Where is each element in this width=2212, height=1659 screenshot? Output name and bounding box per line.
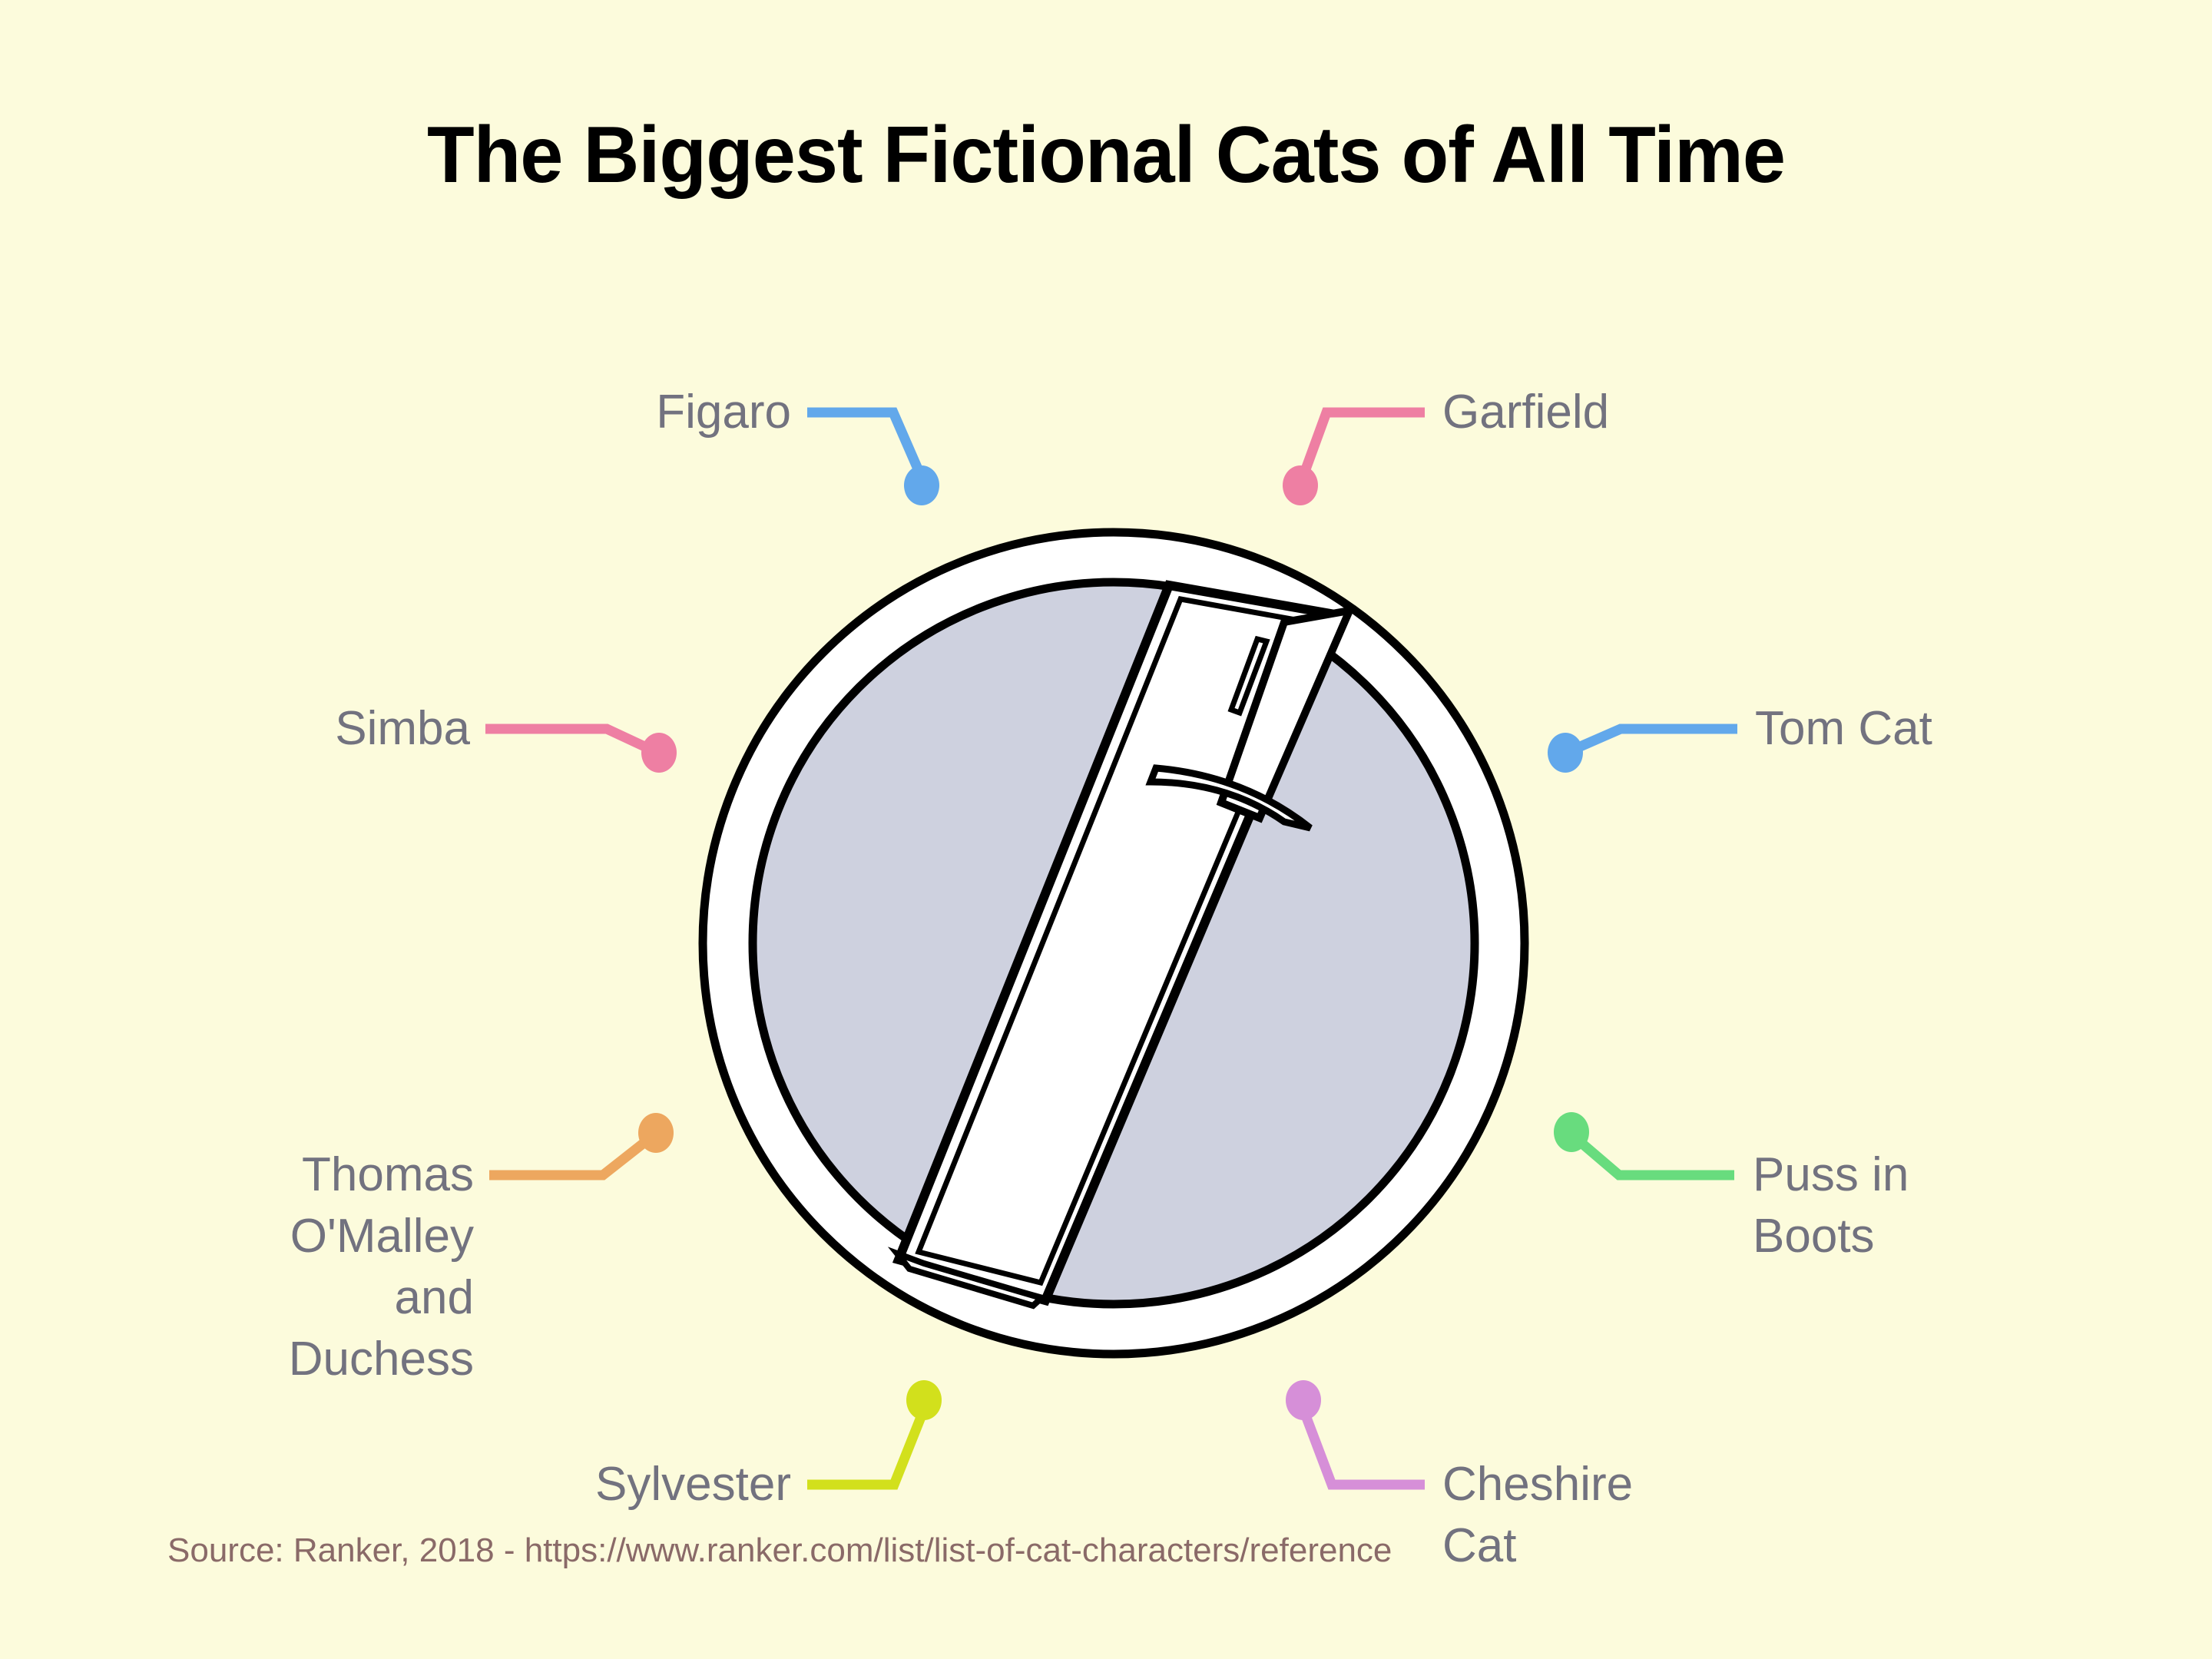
leader-dot-figaro [904,465,939,505]
callout-label-simba[interactable]: Simba [0,698,470,760]
leader-line-tomcat [1571,729,1737,750]
callout-label-figaro[interactable]: Figaro [307,382,791,443]
leader-dot-simba [641,733,677,773]
callout-label-thomas-omalley-and-duchess[interactable]: Thomas O'Malley and Duchess [0,1144,474,1390]
leader-line-garfield [1303,412,1425,478]
leader-dot-sylvester [906,1380,942,1420]
leader-dot-puss [1554,1112,1589,1152]
callout-label-garfield[interactable]: Garfield [1442,382,1980,443]
callout-label-cheshire-cat[interactable]: Cheshire Cat [1442,1454,1919,1577]
leader-dot-garfield [1283,465,1318,505]
leader-line-thomas [489,1138,650,1175]
callout-label-tom-cat[interactable]: Tom Cat [1755,698,2185,760]
source-note: Source: Ranker, 2018 - https://www.ranke… [167,1532,1392,1570]
leader-line-figaro [807,412,922,478]
leader-line-cheshire [1303,1409,1425,1485]
leader-dot-thomas [638,1113,674,1153]
callout-label-sylvester[interactable]: Sylvester [292,1454,791,1515]
callout-label-puss-in-boots[interactable]: Puss in Boots [1753,1144,2183,1267]
leader-line-puss [1577,1139,1734,1175]
infographic-canvas: The Biggest Fictional Cats of All Time [0,0,2212,1659]
leader-dot-tomcat [1548,733,1583,773]
leader-line-sylvester [807,1409,924,1485]
leader-line-simba [485,729,653,750]
pie-chart-graphic [0,0,2212,1659]
leader-dot-cheshire [1286,1380,1321,1420]
